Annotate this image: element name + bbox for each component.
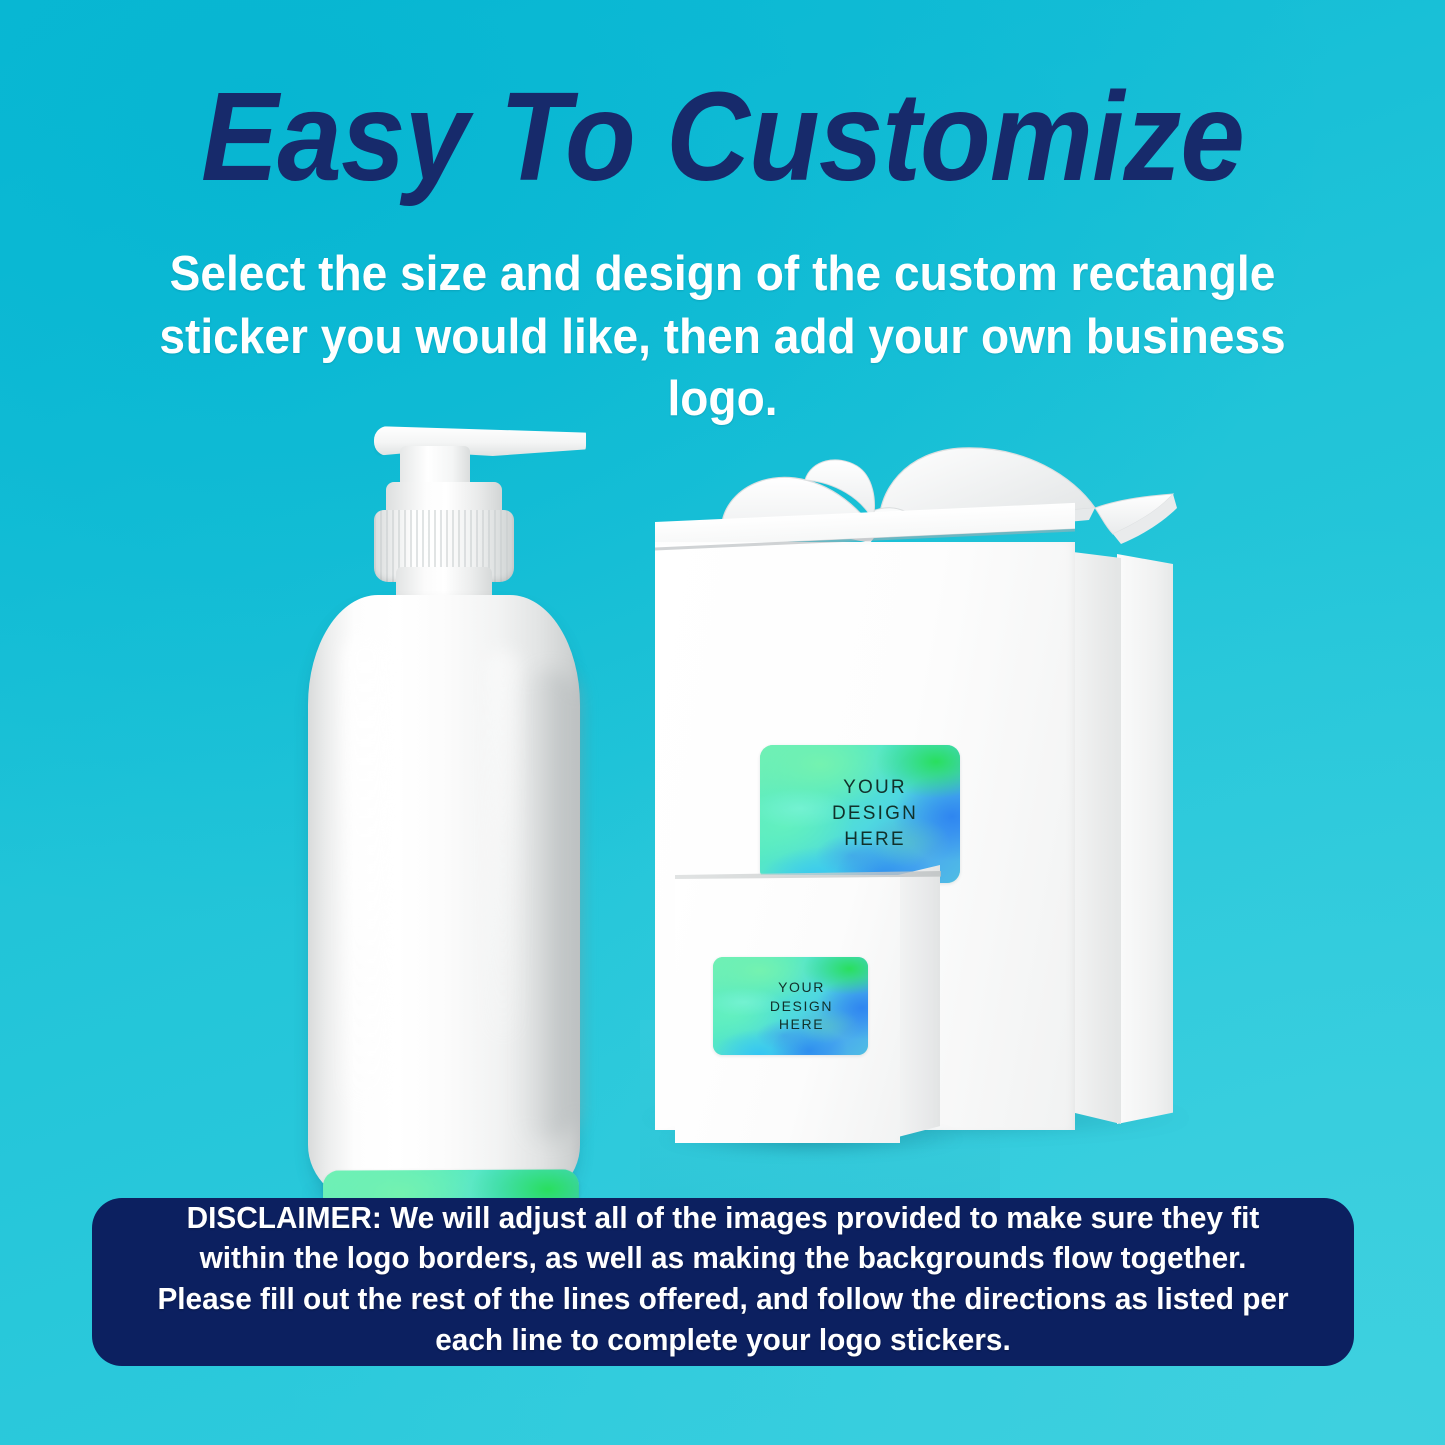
small-box-side-panel [898,865,940,1137]
sticker-text: YOUR DESIGN HERE [760,745,960,883]
pump-bottle: YOUR DESIGN HERE [290,420,610,1210]
sticker-line-1: YOUR [778,978,825,997]
sticker-line-3: HERE [844,827,906,853]
sticker-line-2: DESIGN [832,801,918,827]
bottle-highlight-right [486,650,520,1040]
small-product-box: YOUR DESIGN HERE [675,865,975,1155]
gift-box-side-front [1073,552,1121,1124]
disclaimer-text: DISCLAIMER: We will adjust all of the im… [152,1198,1294,1360]
product-scene: YOUR DESIGN HERE YOUR DESIGN HERE [0,380,1445,1210]
bottle-highlight-left [342,635,390,1105]
sticker-line-2: DESIGN [770,997,833,1016]
poster-canvas: Easy To Customize Select the size and de… [0,0,1445,1445]
sticker-line-1: YOUR [843,775,907,801]
disclaimer-banner: DISCLAIMER: We will adjust all of the im… [92,1198,1354,1366]
bottle-shading [520,670,578,1140]
sticker-text: YOUR DESIGN HERE [713,957,868,1055]
sticker-line-3: HERE [779,1015,824,1034]
gift-box-side-back [1117,554,1173,1124]
disclaimer-label: DISCLAIMER: [187,1200,382,1235]
page-title: Easy To Customize [58,74,1387,200]
sticker-label-small-box[interactable]: YOUR DESIGN HERE [713,957,868,1055]
sticker-label-gift-box[interactable]: YOUR DESIGN HERE [760,745,960,883]
